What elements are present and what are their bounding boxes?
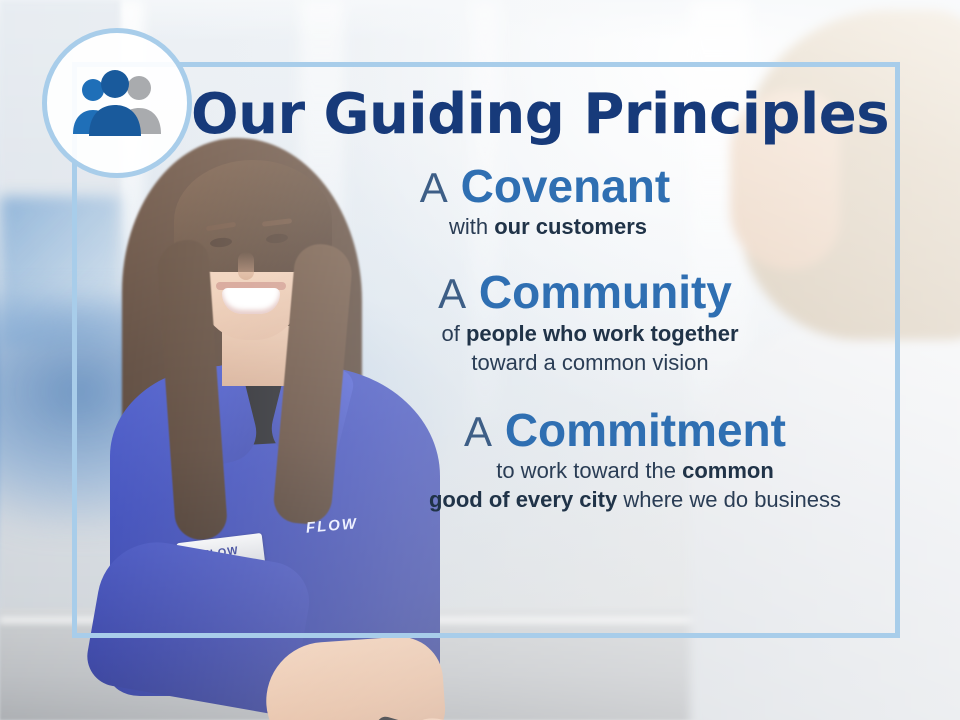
- principle-heading: A Community: [190, 267, 890, 319]
- detail-text-bold: people who work together: [466, 321, 739, 346]
- principle-commitment: A Commitment to work toward the common g…: [190, 405, 890, 515]
- principle-article: A: [438, 270, 466, 317]
- detail-text-bold-2: good of every city: [429, 487, 617, 512]
- detail-text-plain: with: [449, 214, 494, 239]
- detail-text-plain: of: [441, 321, 465, 346]
- detail-text-plain: to work toward the: [496, 458, 682, 483]
- principle-community: A Community of people who work together …: [190, 267, 890, 377]
- principle-detail: of people who work together toward a com…: [190, 319, 890, 377]
- detail-text-bold: common: [682, 458, 774, 483]
- principle-keyword: Covenant: [461, 160, 671, 212]
- people-group-badge: [42, 28, 192, 178]
- page-title: Our Guiding Principles: [190, 86, 890, 145]
- principle-heading: A Commitment: [190, 405, 890, 457]
- people-group-icon: [69, 68, 165, 138]
- principle-heading: A Covenant: [190, 161, 890, 213]
- principle-article: A: [420, 164, 448, 211]
- detail-text-line2: toward a common vision: [471, 350, 708, 375]
- principle-keyword: Commitment: [505, 404, 786, 456]
- principle-article: A: [464, 408, 492, 455]
- detail-text-bold: our customers: [494, 214, 647, 239]
- text-block: Our Guiding Principles A Covenant with o…: [190, 86, 890, 521]
- principle-detail: with our customers: [190, 212, 890, 241]
- principle-detail: to work toward the common good of every …: [190, 456, 890, 514]
- detail-text-plain-3: where we do business: [617, 487, 841, 512]
- principle-keyword: Community: [479, 266, 732, 318]
- marketing-graphic: FLOW FLOW AUTOMOTIVE Our Guiding Princip…: [0, 0, 960, 720]
- principle-covenant: A Covenant with our customers: [190, 161, 890, 242]
